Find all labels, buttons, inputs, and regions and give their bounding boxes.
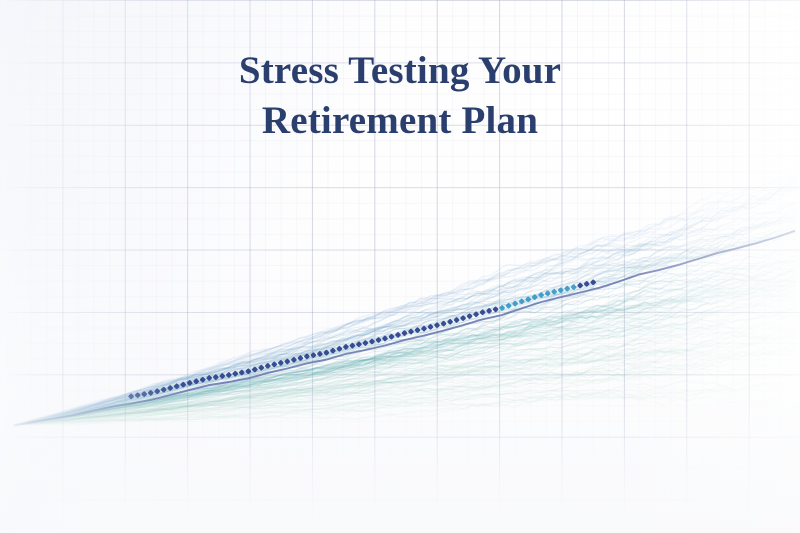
monte-carlo-fan-chart [0, 0, 800, 533]
poster-canvas: Stress Testing Your Retirement Plan [0, 0, 800, 533]
edge-fade-overlay [0, 0, 800, 533]
